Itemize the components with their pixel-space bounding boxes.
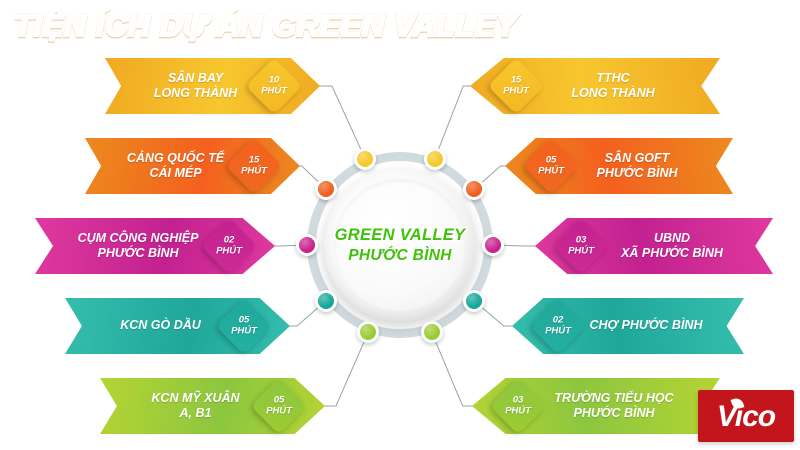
time-badge-minutes: 05 xyxy=(217,315,271,326)
utility-label-cho-phuoc-binh: CHỢ PHƯỚC BÌNH xyxy=(564,318,744,333)
time-badge-text: 15PHÚT xyxy=(489,75,543,98)
utility-label-cang-quoc-te-cai-mep: CẢNG QUỐC TẾCÁI MÉP xyxy=(85,151,248,182)
utility-label-line1: TTHC xyxy=(522,71,704,86)
hub-node-dot xyxy=(360,324,376,340)
utility-label-line2: PHƯỚC BÌNH xyxy=(557,166,717,181)
time-badge-unit: PHÚT xyxy=(489,86,543,97)
hub-node-kcn-my-xuan-a-b1 xyxy=(357,321,379,343)
utility-label-cum-cong-nghiep-phuoc-binh: CỤM CÔNG NGHIỆPPHƯỚC BÌNH xyxy=(35,231,223,262)
time-badge-unit: PHÚT xyxy=(252,406,306,417)
utility-label-san-bay-long-thanh: SÂN BAYLONG THÀNH xyxy=(105,71,268,102)
time-badge-unit: PHÚT xyxy=(202,246,256,257)
utility-item-san-goft-phuoc-binh[interactable]: SÂN GOFTPHƯỚC BÌNH05PHÚT xyxy=(505,138,733,194)
time-badge-minutes: 03 xyxy=(491,395,545,406)
utility-item-san-bay-long-thanh[interactable]: SÂN BAYLONG THÀNH10PHÚT xyxy=(105,58,320,114)
time-badge-text: 10PHÚT xyxy=(247,75,301,98)
hub-node-dot xyxy=(485,237,501,253)
utility-label-ubnd-xa-phuoc-binh: UBNDXÃ PHƯỚC BÌNH xyxy=(587,231,773,262)
hub-label-line2: PHƯỚC BÌNH xyxy=(335,246,466,266)
utility-item-cang-quoc-te-cai-mep[interactable]: CẢNG QUỐC TẾCÁI MÉP15PHÚT xyxy=(85,138,300,194)
utility-label-truong-tieu-hoc-phuoc-binh: TRƯỜNG TIỂU HỌCPHƯỚC BÌNH xyxy=(524,391,720,422)
time-badge-unit: PHÚT xyxy=(227,166,281,177)
utility-label-line1: TRƯỜNG TIỂU HỌC xyxy=(524,391,704,406)
utility-item-cum-cong-nghiep-phuoc-binh[interactable]: CỤM CÔNG NGHIỆPPHƯỚC BÌNH02PHÚT xyxy=(35,218,275,274)
time-badge-minutes: 05 xyxy=(524,155,578,166)
hub-node-dot xyxy=(318,293,334,309)
time-badge-unit: PHÚT xyxy=(524,166,578,177)
hub-node-cum-cong-nghiep-phuoc-binh xyxy=(296,234,318,256)
utility-label-kcn-go-dau: KCN GÒ DẦU xyxy=(65,318,238,333)
hub-label-line1: GREEN VALLEY xyxy=(335,225,466,246)
hub-node-san-bay-long-thanh xyxy=(354,148,376,170)
page-title: TIỆN ÍCH DỰ ÁN GREEN VALLEY xyxy=(14,8,517,44)
utility-label-line1: KCN MỸ XUÂN xyxy=(118,391,273,406)
time-badge-unit: PHÚT xyxy=(247,86,301,97)
utility-label-line1: SÂN GOFT xyxy=(557,151,717,166)
utility-label-line2: PHƯỚC BÌNH xyxy=(53,246,223,261)
hub-node-san-goft-phuoc-binh xyxy=(463,178,485,200)
infographic-canvas: TIỆN ÍCH DỰ ÁN GREEN VALLEY SÂN BAYLONG … xyxy=(0,0,800,450)
utility-label-tthc-long-thanh: TTHCLONG THÀNH xyxy=(522,71,720,102)
utility-item-cho-phuoc-binh[interactable]: CHỢ PHƯỚC BÌNH02PHÚT xyxy=(512,298,744,354)
utility-label-line1: UBND xyxy=(587,231,757,246)
utility-label-line2: XÃ PHƯỚC BÌNH xyxy=(587,246,757,261)
hub-node-dot xyxy=(466,293,482,309)
time-badge-text: 02PHÚT xyxy=(202,235,256,258)
utility-item-kcn-my-xuan-a-b1[interactable]: KCN MỸ XUÂNA, B105PHÚT xyxy=(100,378,325,434)
time-badge-text: 02PHÚT xyxy=(531,315,585,338)
hub-label: GREEN VALLEY PHƯỚC BÌNH xyxy=(335,225,466,265)
hub-node-truong-tieu-hoc-phuoc-binh xyxy=(421,321,443,343)
hub-node-cang-quoc-te-cai-mep xyxy=(315,178,337,200)
time-badge-minutes: 02 xyxy=(202,235,256,246)
time-badge-text: 03PHÚT xyxy=(491,395,545,418)
time-badge-text: 15PHÚT xyxy=(227,155,281,178)
time-badge-text: 05PHÚT xyxy=(252,395,306,418)
time-badge-unit: PHÚT xyxy=(531,326,585,337)
utility-label-line2: A, B1 xyxy=(118,406,273,421)
vico-logo[interactable]: Vico xyxy=(698,390,794,442)
hub-node-dot xyxy=(466,181,482,197)
utility-item-kcn-go-dau[interactable]: KCN GÒ DẦU05PHÚT xyxy=(65,298,290,354)
vico-logo-text: Vico xyxy=(717,400,775,434)
hub-node-tthc-long-thanh xyxy=(424,148,446,170)
time-badge-unit: PHÚT xyxy=(554,246,608,257)
utility-label-line1: CHỢ PHƯỚC BÌNH xyxy=(564,318,728,333)
hub-node-dot xyxy=(299,237,315,253)
hub-node-dot xyxy=(357,151,373,167)
time-badge-minutes: 15 xyxy=(227,155,281,166)
time-badge-minutes: 05 xyxy=(252,395,306,406)
time-badge-text: 05PHÚT xyxy=(524,155,578,178)
time-badge-minutes: 10 xyxy=(247,75,301,86)
utility-label-line1: KCN GÒ DẦU xyxy=(83,318,238,333)
hub-node-dot xyxy=(427,151,443,167)
utility-label-line2: LONG THÀNH xyxy=(522,86,704,101)
utility-label-line2: PHƯỚC BÌNH xyxy=(524,406,704,421)
hub-node-dot xyxy=(318,181,334,197)
utility-item-tthc-long-thanh[interactable]: TTHCLONG THÀNH15PHÚT xyxy=(470,58,720,114)
time-badge-minutes: 03 xyxy=(554,235,608,246)
hub-node-kcn-go-dau xyxy=(315,290,337,312)
utility-label-kcn-my-xuan-a-b1: KCN MỸ XUÂNA, B1 xyxy=(100,391,273,422)
utility-item-truong-tieu-hoc-phuoc-binh[interactable]: TRƯỜNG TIỂU HỌCPHƯỚC BÌNH03PHÚT xyxy=(472,378,720,434)
time-badge-unit: PHÚT xyxy=(217,326,271,337)
hub-node-dot xyxy=(424,324,440,340)
hub-node-ubnd-xa-phuoc-binh xyxy=(482,234,504,256)
time-badge-minutes: 15 xyxy=(489,75,543,86)
time-badge-text: 03PHÚT xyxy=(554,235,608,258)
hub-node-cho-phuoc-binh xyxy=(463,290,485,312)
utility-label-line1: CỤM CÔNG NGHIỆP xyxy=(53,231,223,246)
time-badge-text: 05PHÚT xyxy=(217,315,271,338)
time-badge-unit: PHÚT xyxy=(491,406,545,417)
utility-item-ubnd-xa-phuoc-binh[interactable]: UBNDXÃ PHƯỚC BÌNH03PHÚT xyxy=(535,218,773,274)
time-badge-minutes: 02 xyxy=(531,315,585,326)
utility-label-san-goft-phuoc-binh: SÂN GOFTPHƯỚC BÌNH xyxy=(557,151,733,182)
